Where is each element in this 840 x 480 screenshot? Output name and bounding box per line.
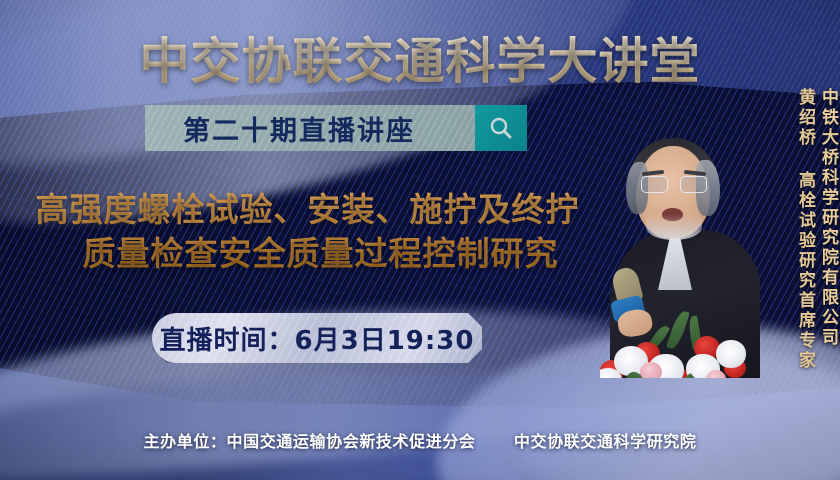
poster-root: 中交协联交通科学大讲堂 第二十期直播讲座 高强度螺栓试验、安装、施拧及终拧 质量… [0,0,840,480]
broadcast-time-label: 直播时间：6月3日19:30 [160,320,475,357]
lecture-headline: 高强度螺栓试验、安装、施拧及终拧 质量检查安全质量过程控制研究 [0,188,615,276]
subtitle-label: 第二十期直播讲座 [183,109,415,148]
organizer-primary: 主办单位：中国交通运输协会新技术促进分会 [144,432,476,451]
headline-line-1: 高强度螺栓试验、安装、施拧及终拧 [0,188,615,232]
page-title: 中交协联交通科学大讲堂 [0,22,840,93]
broadcast-time-banner: 直播时间：6月3日19:30 [152,313,482,363]
speaker-credentials: 黄绍桥 高栓试验研究首席专家 中铁大桥科学研究院有限公司 [794,88,836,388]
headline-line-2: 质量检查安全质量过程控制研究 [0,232,615,276]
search-button[interactable] [475,105,527,151]
search-icon [488,115,514,141]
organizer-secondary: 中交协联交通科学研究院 [514,432,697,451]
poster-content: 中交协联交通科学大讲堂 第二十期直播讲座 高强度螺栓试验、安装、施拧及终拧 质量… [0,0,840,480]
speaker-organization: 中铁大桥科学研究院有限公司 [819,88,836,388]
organizer-footer: 主办单位：中国交通运输协会新技术促进分会 中交协联交通科学研究院 [0,428,840,452]
subtitle-banner: 第二十期直播讲座 [145,105,527,151]
speaker-name-role: 黄绍桥 高栓试验研究首席专家 [796,88,813,388]
